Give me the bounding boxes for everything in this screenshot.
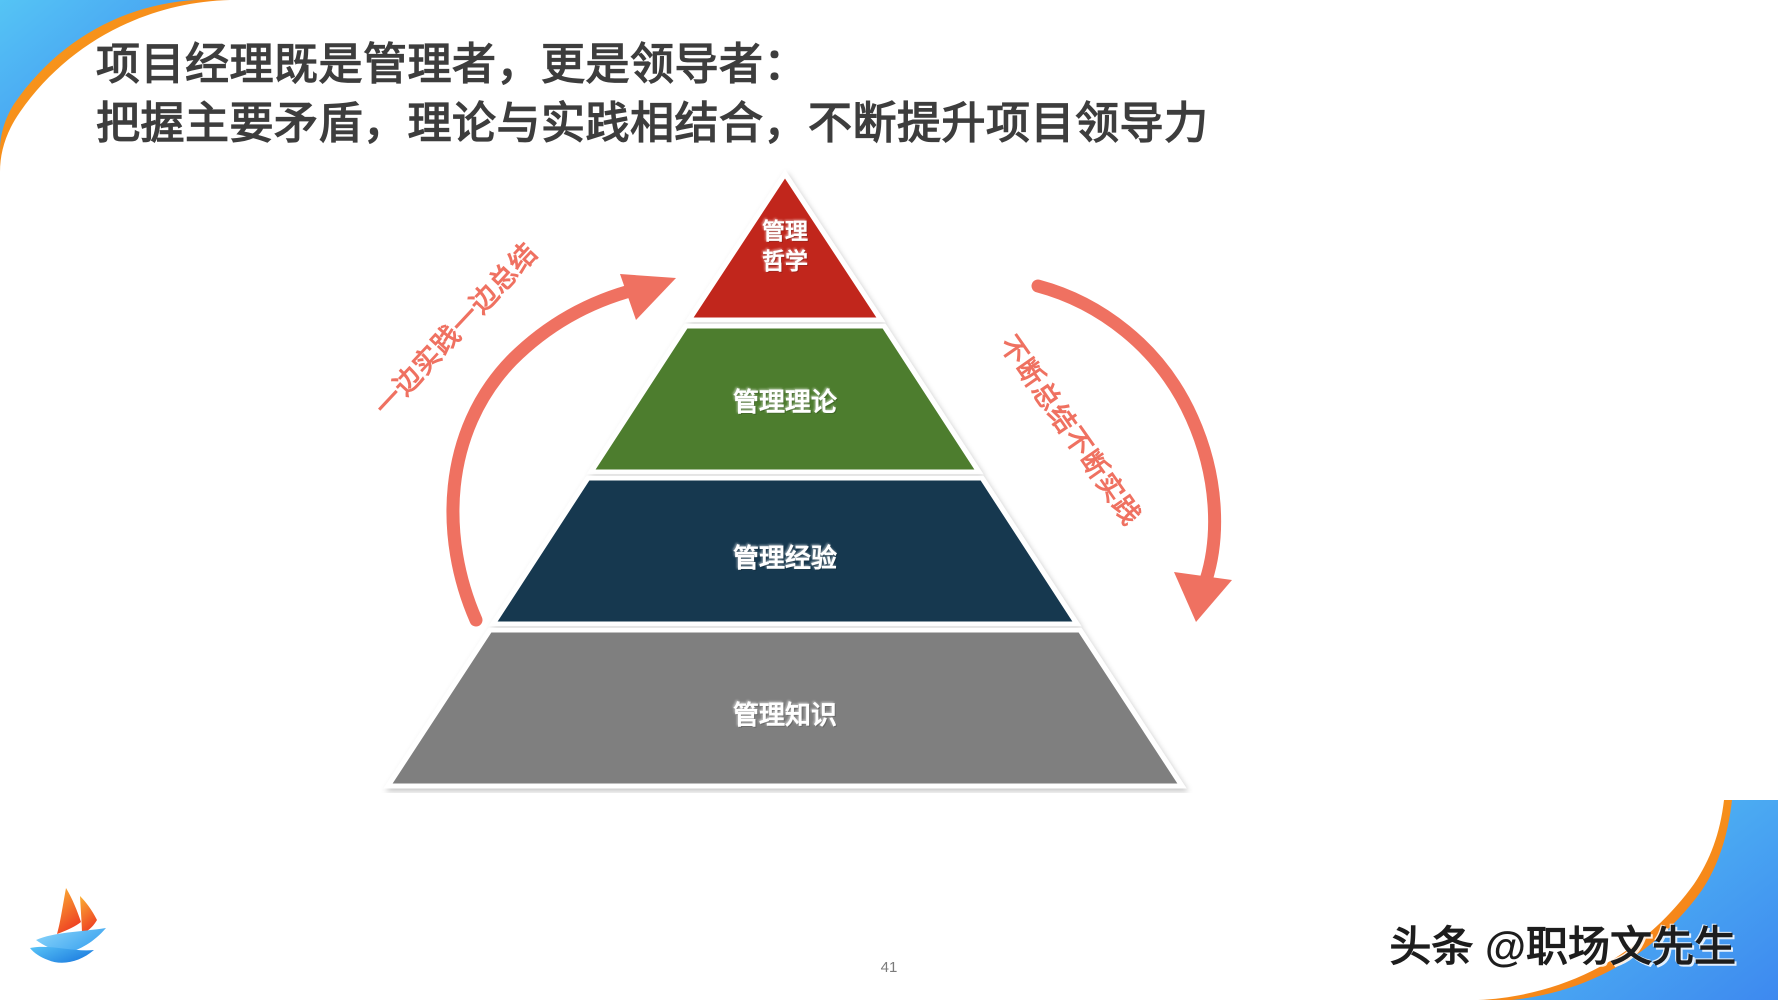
sail-back	[80, 896, 97, 934]
page-title: 项目经理既是管理者，更是领导者： 把握主要矛盾，理论与实践相结合，不断提升项目领…	[96, 36, 1396, 153]
title-line-1: 项目经理既是管理者，更是领导者：	[96, 36, 1396, 95]
sail-front	[57, 888, 81, 934]
title-line-2: 把握主要矛盾，理论与实践相结合，不断提升项目领导力	[96, 95, 1396, 154]
pyramid-layer-experience	[493, 478, 1077, 624]
pyramid-diagram: 管理 哲学 管理理论 管理经验 管理知识	[370, 168, 1200, 793]
watermark-text: 头条 @职场文先生	[1389, 913, 1736, 974]
pyramid-layer-theory	[591, 326, 979, 472]
slide-canvas: 项目经理既是管理者，更是领导者： 把握主要矛盾，理论与实践相结合，不断提升项目领…	[0, 0, 1778, 1000]
pyramid-layer-knowledge	[388, 630, 1182, 786]
pyramid-layer-apex	[689, 174, 881, 320]
sailboat-logo	[24, 878, 134, 978]
wave-bottom	[30, 947, 94, 963]
